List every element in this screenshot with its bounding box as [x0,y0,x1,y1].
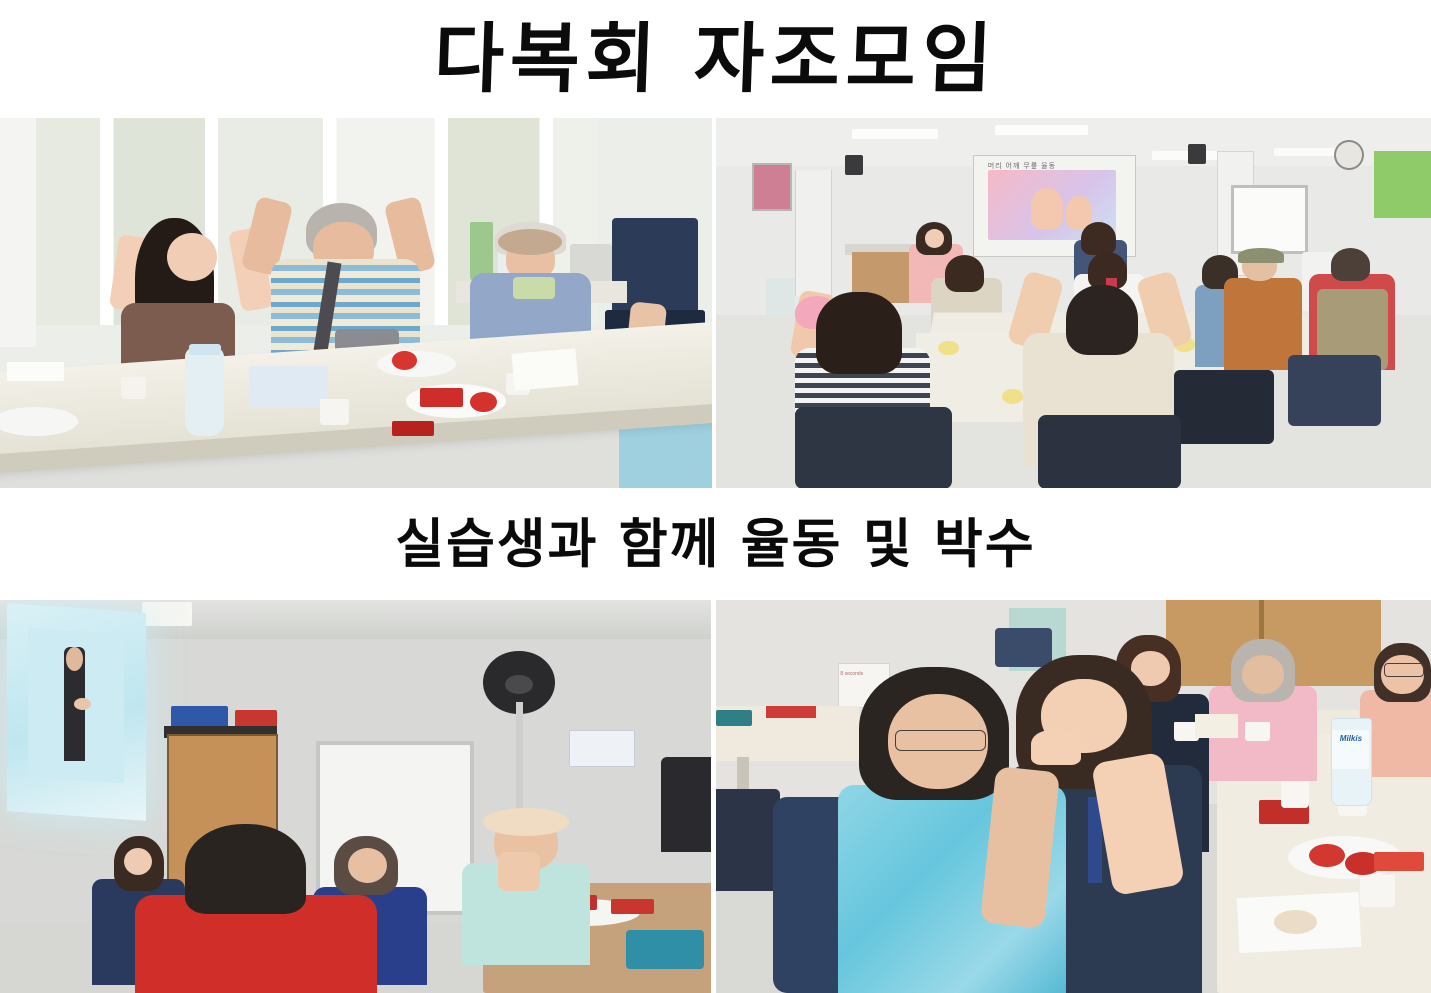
student-face [167,233,217,281]
ceiling-light-1 [852,129,938,139]
slide-character-1 [1031,188,1063,229]
whiteboard [1231,185,1309,254]
photo-top-left [0,118,712,488]
paper-cup-1 [121,377,146,399]
sun-hat [483,808,568,836]
back-elder-head [1066,285,1138,355]
elder-woman-hands [498,229,562,255]
neck-scarf [513,277,556,299]
paper-bag-rear [1195,714,1238,738]
projected-instructor-hand [74,698,91,710]
elder-clapping-hands [498,852,541,891]
snack-pack-front [1374,852,1424,872]
paper-cup-2 [320,399,348,425]
student-navy-hair [1081,222,1117,255]
student-face [124,848,152,876]
side-door [795,170,833,296]
teal-bag [626,930,704,969]
poster-caption-band: 실습생과 함께 율동 및 박수 [0,488,1431,600]
red-book [766,706,816,718]
photo-bottom-right: 8 seconds [716,600,1431,993]
student-beige-hair [945,255,984,292]
milkis-brand-text: Milkis [1334,734,1368,748]
photo-bottom-left [0,600,711,993]
wall-speaker-2 [1188,144,1207,164]
photo-top-right: 머리 어깨 무릎 율동 [716,118,1431,489]
paper-cup-a [1281,781,1310,809]
paper-note-left [7,362,64,381]
poster-title-band: 다복회 자조모임 [0,0,1431,118]
tomato-2 [470,392,497,412]
projected-slide-title: 머리 어깨 무릎 율동 [988,161,1102,172]
fruit-2 [1002,389,1023,404]
elder-glasses [895,730,986,752]
bread-roll [1274,910,1317,934]
elder-salmon-glasses [1384,663,1425,677]
framed-picture [752,163,792,212]
wall-notice [569,730,635,767]
ceiling-light [142,602,192,626]
tissue-box [249,366,327,407]
elder-blue-face [348,848,387,883]
wheelchair [716,789,780,891]
elder-orange-cap [1238,248,1284,263]
paper-cup-rear-2 [1245,722,1270,742]
snack-pack-2 [392,421,435,436]
elder-back-head [185,824,306,914]
wall-speaker-1 [845,155,864,175]
paper-cup-c [1360,875,1396,906]
snack-pack-1 [420,388,463,407]
tomato-1 [392,351,417,370]
finger-heart-gesture [1031,730,1081,765]
chair-3 [1174,370,1274,444]
chair-4 [1288,355,1381,425]
paper-napkin [511,348,578,390]
standing-person [661,757,711,851]
page-title: 다복회 자조모임 [432,21,999,97]
pet-bottle-drink [185,347,224,436]
photo-bottom-right-scene: 8 seconds [716,600,1431,993]
photo-top-left-scene [0,118,712,488]
ceiling-light-2 [995,125,1088,135]
projected-instructor-head [66,647,83,671]
wall-left-panel [0,118,36,347]
stacked-chair-back [995,628,1052,667]
elder-pink-face [1242,655,1285,694]
tomato-plate-1 [377,351,455,377]
snack-pack-2 [611,899,654,915]
elder-red-head [1331,248,1370,281]
back-woman-hair [816,292,902,374]
pet-bottle-cap [189,344,221,355]
photo-top-right-scene: 머리 어깨 무릎 율동 [716,118,1431,489]
photo-caption: 실습생과 함께 율동 및 박수 [395,518,1035,571]
pencil-pouch [716,710,752,726]
student-pink-face [925,229,944,248]
photo-bottom-left-scene [0,600,711,993]
chair-1 [795,407,952,489]
green-bottle [470,222,493,281]
green-notice-board [1374,151,1431,218]
poster-root: 다복회 자조모임 [0,0,1431,993]
chair-2 [1038,415,1181,489]
